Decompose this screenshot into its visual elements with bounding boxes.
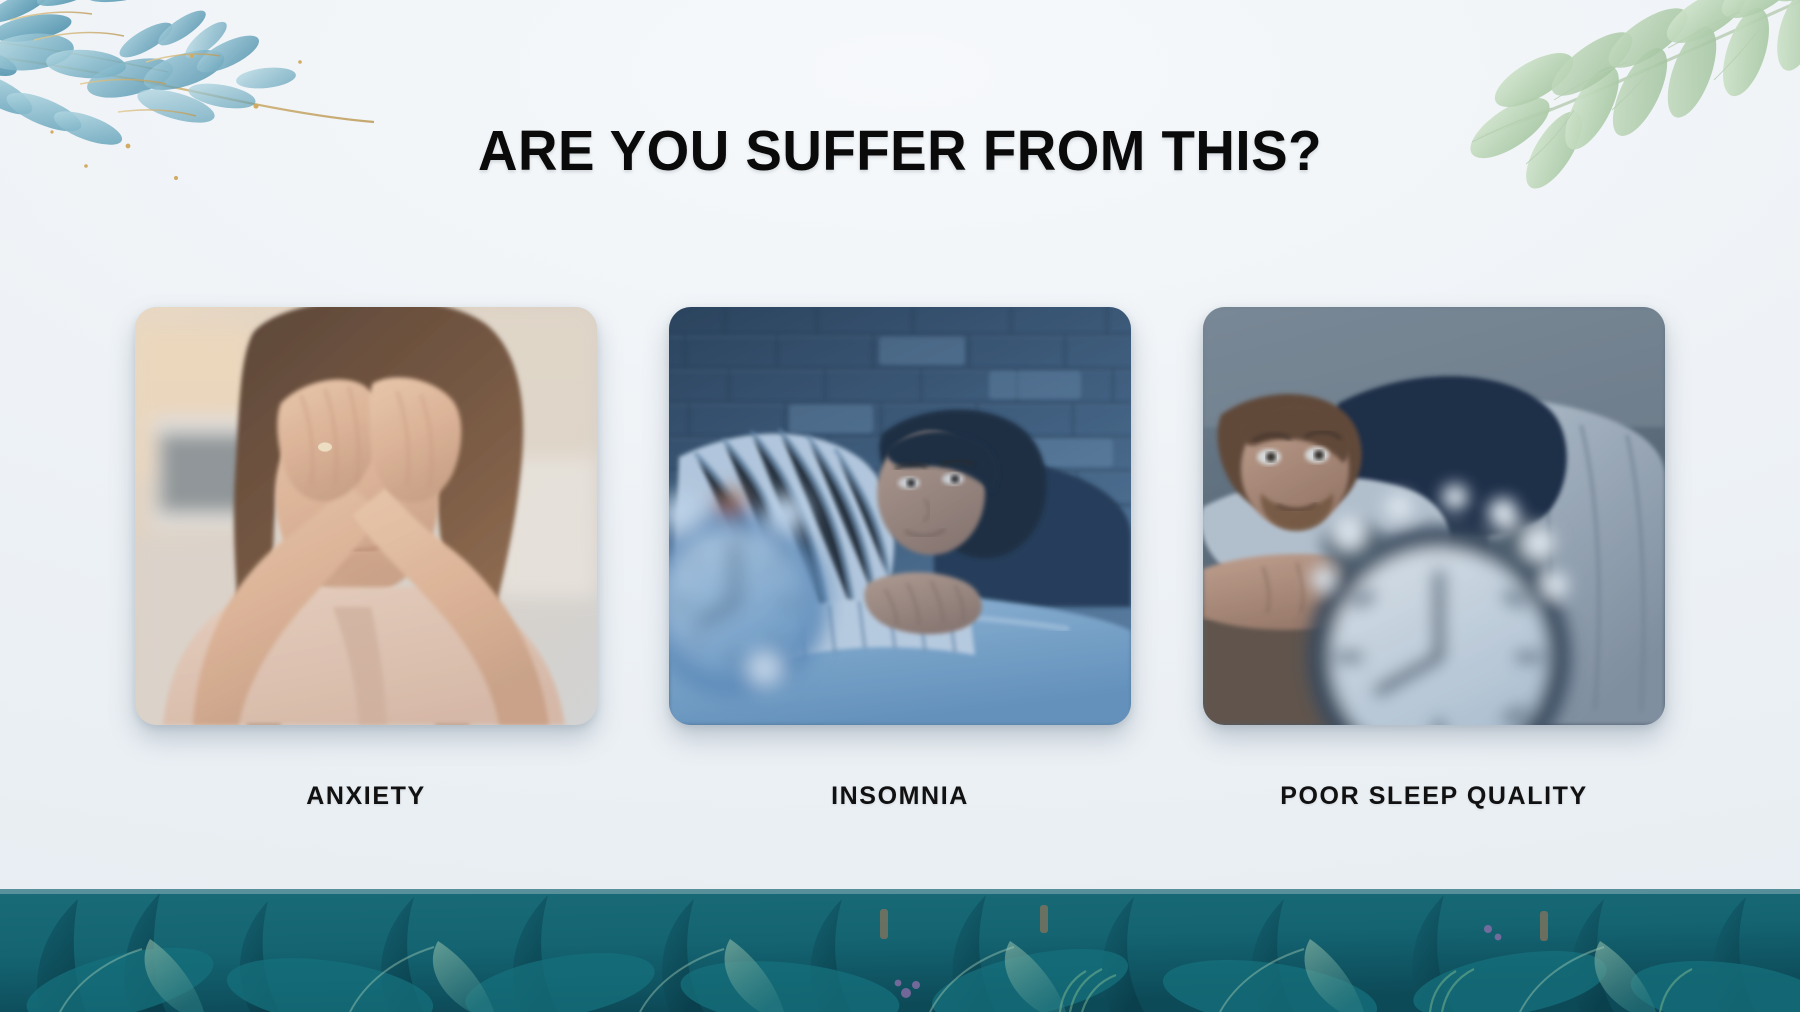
bottom-foliage-band: [0, 889, 1800, 1012]
caption-insomnia: INSOMNIA: [669, 782, 1131, 811]
caption-anxiety: ANXIETY: [135, 782, 597, 811]
symptom-card-poor-sleep-quality[interactable]: [1203, 307, 1665, 725]
symptom-card-row: [135, 307, 1665, 727]
caption-poor-sleep-quality: POOR SLEEP QUALITY: [1203, 782, 1665, 811]
insomnia-photo: [669, 307, 1131, 725]
symptom-card-anxiety[interactable]: [135, 307, 597, 725]
slide-root: ARE YOU SUFFER FROM THIS?: [0, 0, 1800, 1012]
anxiety-photo: [135, 307, 597, 725]
poor-sleep-quality-photo: [1203, 307, 1665, 725]
symptom-caption-row: ANXIETY INSOMNIA POOR SLEEP QUALITY: [135, 782, 1665, 811]
symptom-card-insomnia[interactable]: [669, 307, 1131, 725]
page-title: ARE YOU SUFFER FROM THIS?: [36, 118, 1764, 184]
